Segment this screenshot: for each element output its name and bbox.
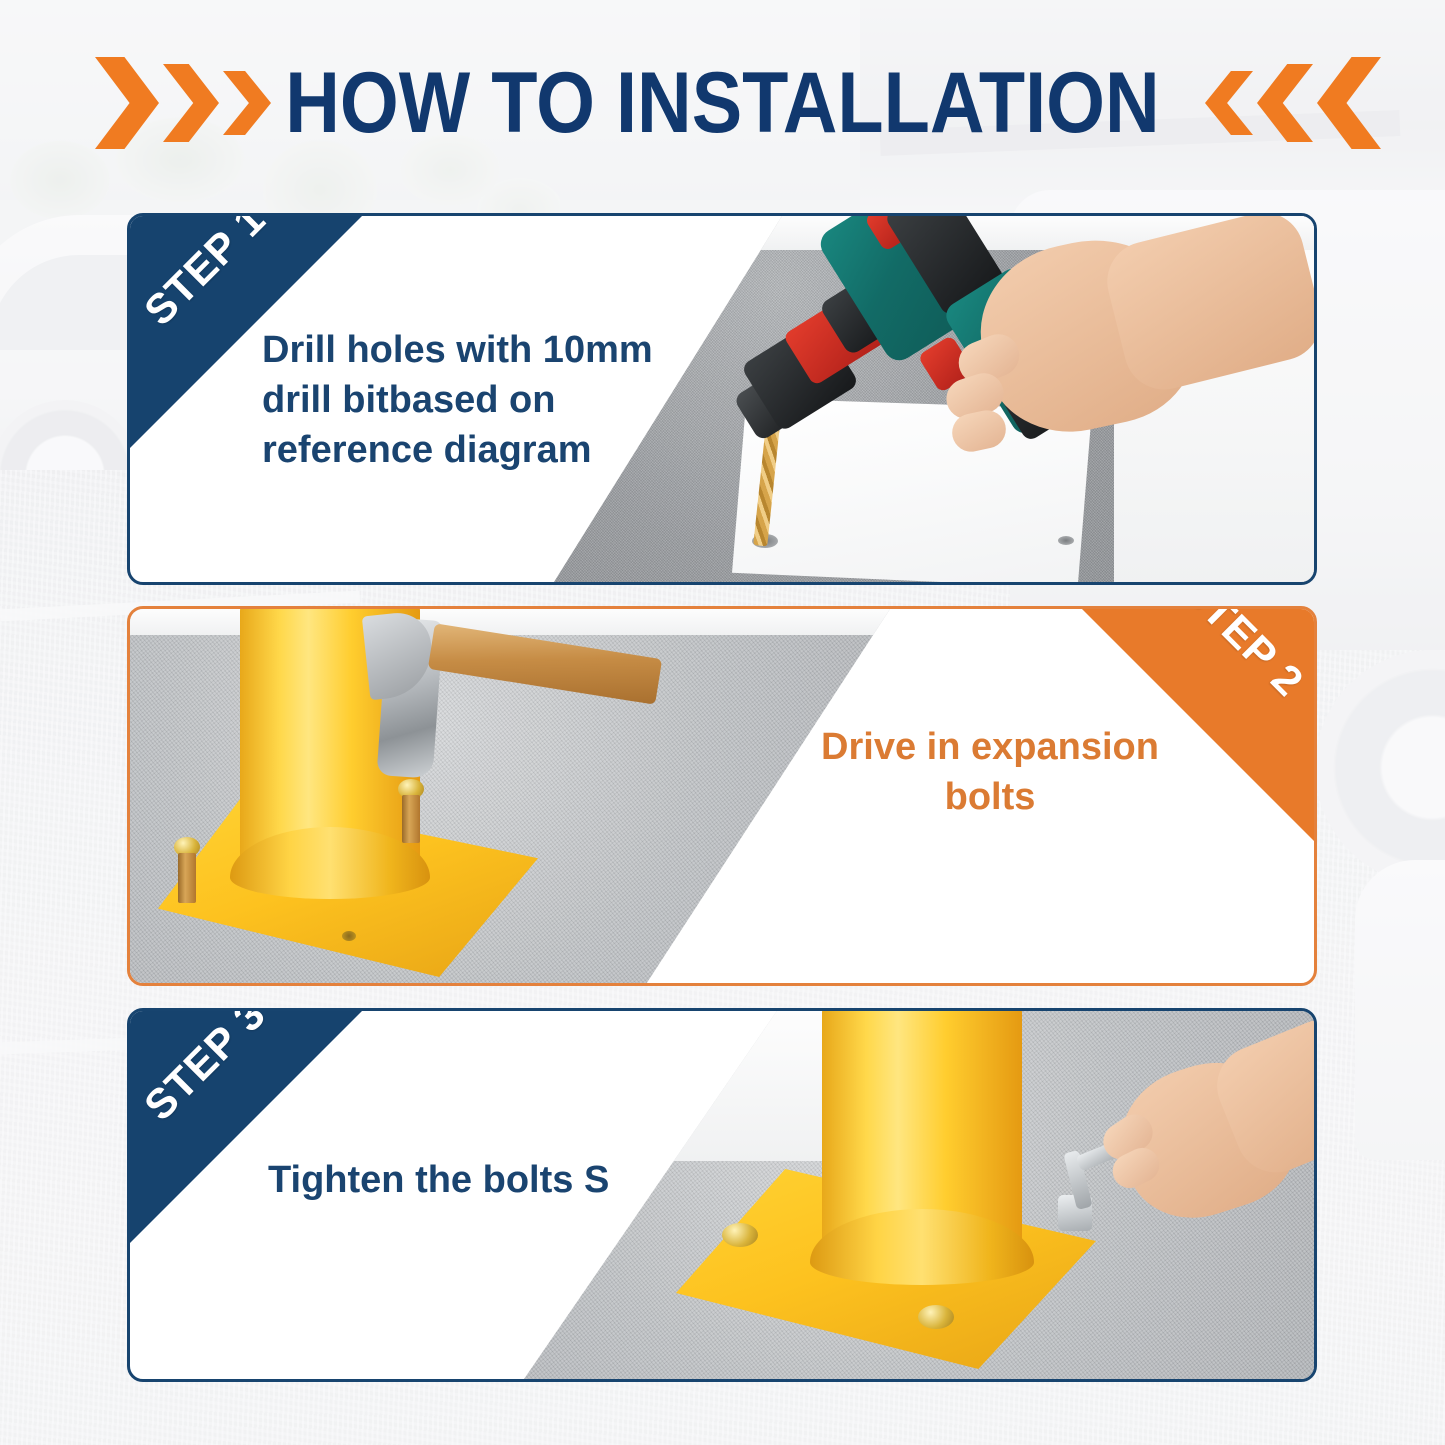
tightened-bolt bbox=[918, 1305, 954, 1329]
step-badge-label: STEP 3 bbox=[135, 1008, 275, 1130]
photo-background-top bbox=[524, 1011, 844, 1161]
step-badge-label: STEP 1 bbox=[135, 213, 275, 335]
bollard-post bbox=[822, 1011, 1022, 1241]
step-2-photo bbox=[130, 609, 890, 983]
tightened-bolt bbox=[722, 1223, 758, 1247]
step-2-text: Drive in expansion bolts bbox=[800, 722, 1180, 822]
expansion-bolt-stud bbox=[402, 795, 420, 843]
step-1-text: Drill holes with 10mm drill bitbased on … bbox=[262, 325, 732, 475]
drill-hole bbox=[1058, 536, 1074, 545]
step-badge-label: STEP 2 bbox=[1173, 606, 1313, 706]
step-badge-3: STEP 3 bbox=[130, 1011, 362, 1243]
page-title: HOW TO INSTALLATION bbox=[87, 48, 1359, 158]
base-plate-hole bbox=[342, 931, 356, 941]
expansion-bolt-stud bbox=[178, 853, 196, 903]
step-3-text: Tighten the bolts S bbox=[268, 1155, 788, 1205]
